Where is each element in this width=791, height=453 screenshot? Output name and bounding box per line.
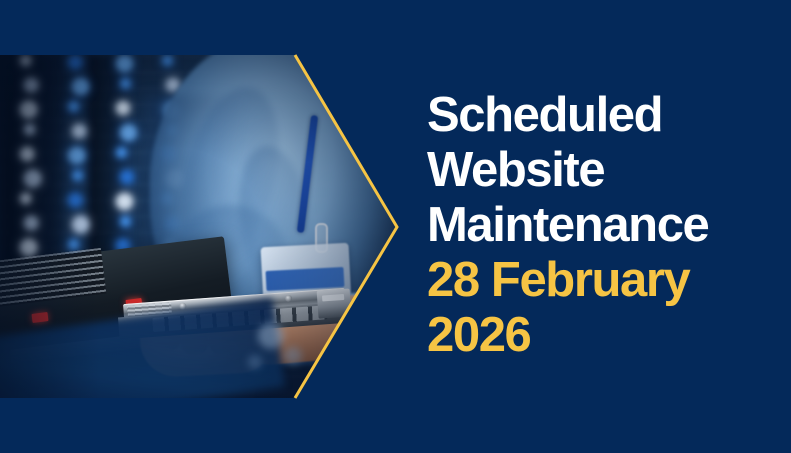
rack-led	[24, 78, 38, 92]
rack-led	[72, 78, 89, 95]
rack-led	[24, 216, 38, 230]
datacenter-photo	[0, 55, 398, 398]
rack-led	[162, 55, 173, 66]
hdd-connector-end	[317, 288, 352, 318]
rack-led	[24, 170, 41, 187]
rack-led	[116, 147, 127, 158]
bokeh-light	[258, 323, 284, 349]
rack-led	[68, 193, 82, 207]
date-line-2: 2026	[427, 308, 777, 363]
rack-led	[68, 147, 85, 164]
rack-led	[68, 239, 79, 250]
rack-led	[24, 124, 35, 135]
maintenance-banner: Scheduled Website Maintenance 28 Februar…	[0, 0, 791, 453]
rack-led	[116, 193, 133, 210]
rack-led	[116, 101, 130, 115]
bokeh-light	[284, 347, 302, 365]
rack-led	[120, 124, 137, 141]
rack-led	[68, 55, 82, 69]
date-line-1: 28 February	[427, 253, 777, 308]
rack-led	[20, 55, 31, 66]
rack-led	[20, 239, 37, 256]
rack-led	[72, 216, 89, 233]
rack-led	[120, 78, 131, 89]
id-badge-stripe	[266, 267, 345, 291]
rack-led	[68, 101, 79, 112]
headline-line-3: Maintenance	[427, 198, 777, 253]
rack-led	[116, 55, 133, 72]
rack-led	[72, 124, 86, 138]
rack-led	[20, 193, 31, 204]
rack-led	[120, 216, 131, 227]
rack-led	[20, 101, 37, 118]
rack-led	[120, 170, 134, 184]
bokeh-light	[248, 355, 262, 369]
chassis-status-led	[32, 312, 49, 323]
headline-group: Scheduled Website Maintenance 28 Februar…	[427, 88, 777, 363]
headline-line-2: Website	[427, 143, 777, 198]
headline-line-1: Scheduled	[427, 88, 777, 143]
rack-led	[20, 147, 34, 161]
rack-led	[72, 170, 83, 181]
